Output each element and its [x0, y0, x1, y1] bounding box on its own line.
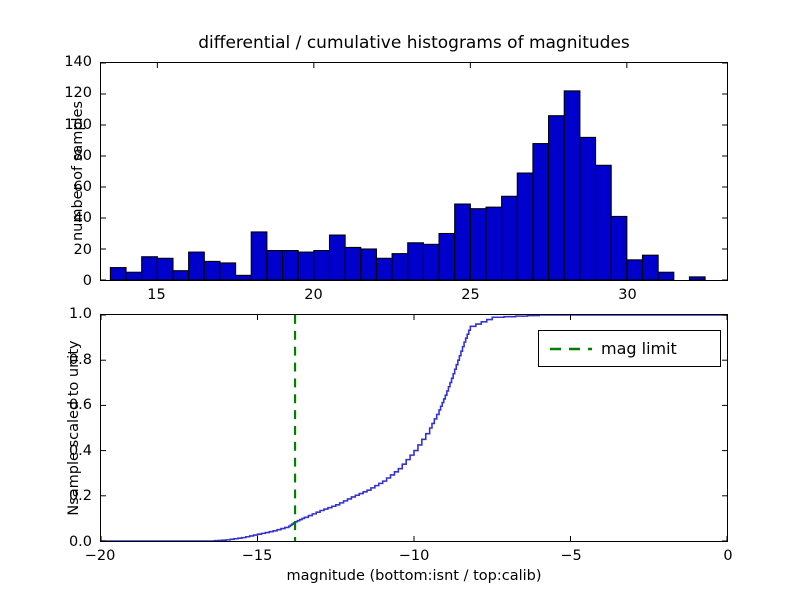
histogram-bar — [455, 204, 471, 280]
histogram-bar — [251, 232, 267, 280]
x-axis-label: magnitude (bottom:isnt / top:calib) — [100, 568, 728, 584]
histogram-bar — [658, 272, 674, 280]
histogram-bar — [517, 173, 533, 280]
histogram-bar — [236, 275, 252, 280]
bottom-y-tick-label: 0.4 — [42, 443, 92, 459]
histogram-bar — [408, 243, 424, 280]
matplotlib-figure: differential / cumulative histograms of … — [0, 0, 800, 600]
histogram-bar — [110, 268, 126, 280]
histogram-bar — [142, 257, 158, 280]
top-x-tick-label: 30 — [618, 287, 636, 303]
histogram-bar — [533, 144, 549, 280]
top-x-tick-label: 25 — [461, 287, 479, 303]
histogram-bar — [392, 254, 408, 280]
histogram-bar — [345, 247, 361, 280]
mag-limit-dashed-line-icon — [549, 342, 593, 356]
histogram-bar — [204, 261, 220, 280]
histogram-bar — [439, 234, 455, 281]
top-y-tick-label: 140 — [42, 54, 92, 70]
histogram-bar — [627, 260, 643, 280]
histogram-bar — [376, 258, 392, 280]
top-y-tick-label: 60 — [42, 179, 92, 195]
top-x-tick-label: 20 — [304, 287, 322, 303]
histogram-bar — [423, 244, 439, 280]
bottom-x-tick-label: −15 — [242, 548, 273, 564]
histogram-bar — [689, 277, 705, 280]
histogram-bar — [298, 252, 314, 280]
histogram-bar — [314, 251, 330, 280]
differential-histogram-axes — [100, 62, 728, 281]
histogram-bar — [564, 91, 580, 280]
bottom-y-axis-label: Nsample scaled to unity — [66, 314, 82, 542]
bottom-y-tick-label: 0.2 — [42, 488, 92, 504]
top-x-tick-label: 15 — [147, 287, 165, 303]
bottom-y-tick-label: 0.6 — [42, 397, 92, 413]
top-y-tick-label: 80 — [42, 148, 92, 164]
differential-histogram-plot — [101, 63, 727, 280]
bottom-y-tick-label: 0.0 — [42, 534, 92, 550]
bottom-x-tick-label: −10 — [399, 548, 430, 564]
top-y-tick-label: 0 — [42, 273, 92, 289]
histogram-bar — [502, 196, 518, 280]
histogram-bar — [580, 137, 596, 280]
bottom-y-tick-label: 0.8 — [42, 352, 92, 368]
histogram-bar — [596, 165, 612, 280]
top-y-tick-label: 100 — [42, 117, 92, 133]
histogram-bar — [486, 207, 502, 280]
histogram-bar — [189, 252, 205, 280]
histogram-bar — [611, 216, 627, 280]
bottom-x-tick-label: 0 — [723, 548, 732, 564]
histogram-bars — [110, 91, 705, 280]
histogram-bar — [329, 235, 345, 280]
top-y-tick-label: 120 — [42, 85, 92, 101]
bottom-x-tick-label: −5 — [560, 548, 581, 564]
histogram-bar — [361, 249, 377, 280]
legend: mag limit — [538, 330, 721, 367]
figure-title: differential / cumulative histograms of … — [100, 33, 728, 53]
histogram-bar — [157, 258, 173, 280]
histogram-bar — [126, 272, 142, 280]
histogram-bar — [283, 251, 299, 280]
histogram-bar — [173, 271, 189, 280]
top-y-tick-label: 40 — [42, 210, 92, 226]
histogram-bar — [549, 116, 565, 280]
histogram-bar — [220, 263, 236, 280]
histogram-bar — [470, 209, 486, 280]
histogram-bar — [642, 255, 658, 280]
bottom-x-tick-label: −20 — [85, 548, 116, 564]
bottom-y-tick-label: 1.0 — [42, 306, 92, 322]
legend-label-mag-limit: mag limit — [601, 339, 689, 358]
top-y-tick-label: 20 — [42, 242, 92, 258]
histogram-bar — [267, 251, 283, 280]
